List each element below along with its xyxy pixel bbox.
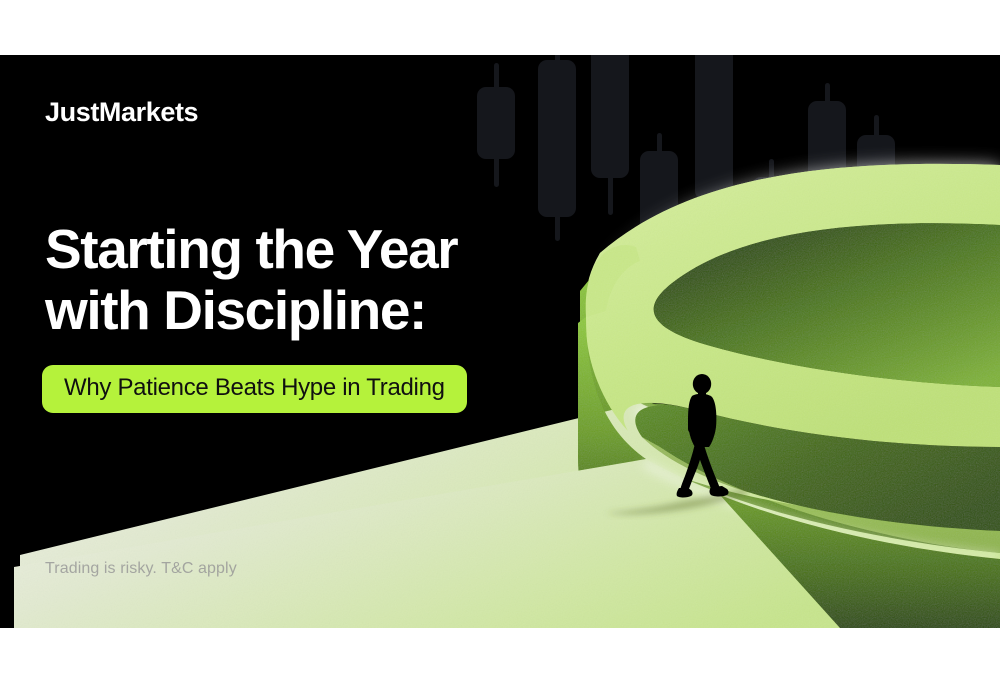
risk-disclaimer: Trading is risky. T&C apply [45,560,237,578]
winding-green-path-illustration [0,55,1000,628]
subtitle-badge: Why Patience Beats Hype in Trading [42,365,467,413]
brand-logo: JustMarkets [45,97,198,128]
page-title: Starting the Year with Discipline: [45,219,457,341]
banner-root: JustMarkets Starting the Year with Disci… [0,0,1000,683]
businessman-walking-silhouette [668,373,738,503]
artwork-canvas: JustMarkets Starting the Year with Disci… [0,55,1000,628]
